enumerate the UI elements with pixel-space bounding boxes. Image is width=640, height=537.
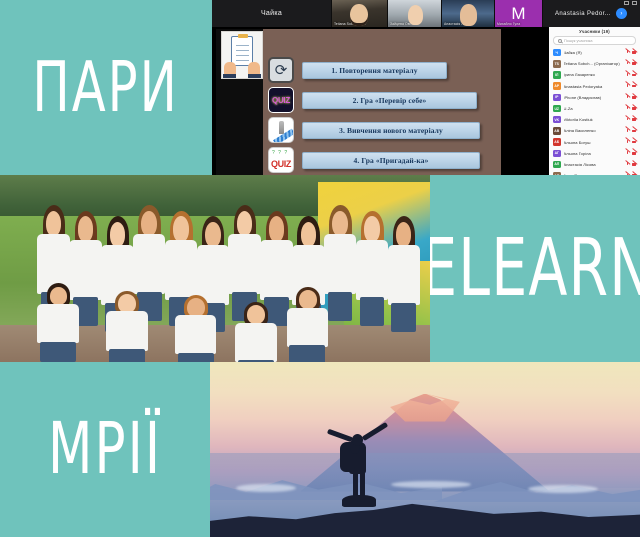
video-tile-2-name: Зайцева Ові... — [390, 22, 414, 26]
agenda-bar-1: 1. Повторення матеріалу — [302, 62, 447, 79]
participant-row[interactable]: APAnastasia Pedoryaka — [549, 81, 640, 92]
sleeve-left — [223, 74, 236, 78]
participant-status-icons — [625, 84, 637, 89]
quiz-red-icon: QUIZ — [268, 147, 294, 173]
mic-off-icon[interactable] — [625, 61, 630, 66]
participant-status-icons — [625, 61, 637, 66]
student-figure-front — [103, 291, 150, 362]
participant-avatar: АЛ — [553, 161, 561, 169]
participant-avatar: AP — [553, 82, 561, 90]
hiker-silhouette — [328, 404, 390, 502]
participant-row[interactable]: iPiPhone (Владислав) — [549, 92, 640, 103]
participant-avatar: АВ — [553, 127, 561, 135]
camera-off-icon[interactable] — [632, 117, 637, 122]
participants-title: Учасники (19) — [549, 27, 640, 36]
camera-off-icon[interactable] — [632, 72, 637, 77]
quiz-neon-icon: QUIZ — [268, 87, 294, 113]
video-tile-1-name: Tetiana Sobchenk... — [334, 22, 366, 26]
student-figure-front — [284, 287, 331, 362]
panel-mrii-word: Мрії — [48, 415, 162, 483]
agenda-row-1: ⟳ 1. Повторення матеріалу — [268, 57, 447, 83]
participant-row[interactable]: UZU-Za — [549, 103, 640, 114]
participant-name: Альона Богуш — [564, 140, 623, 145]
participant-row[interactable]: АЛАнастасія Лісова — [549, 159, 640, 170]
camera-off-icon[interactable] — [632, 140, 637, 145]
participant-row[interactable]: TSTetiana Sobch... (Організатор) — [549, 58, 640, 69]
hiker-arm-left — [327, 429, 353, 443]
agenda-row-3: 3. Вивчення нового матеріалу — [268, 117, 480, 143]
hiker-leg-left — [353, 472, 358, 502]
participant-row[interactable]: АБАльона Богуш — [549, 137, 640, 148]
participant-name: Ірина Лазаренко — [564, 72, 623, 77]
participant-status-icons — [625, 95, 637, 100]
student-figure-front — [34, 283, 81, 362]
mic-off-icon[interactable] — [625, 84, 630, 89]
search-icon — [558, 39, 562, 43]
participant-search-placeholder: Пошук учасника — [564, 39, 592, 43]
panel-pary-word: Пари — [33, 55, 179, 121]
pen-icon — [268, 117, 294, 143]
participants-list[interactable]: ЧЧайка (Я)TSTetiana Sobch... (Організато… — [549, 47, 640, 175]
panel-group-photo — [0, 175, 430, 362]
mic-off-icon[interactable] — [625, 128, 630, 133]
student-figure — [384, 216, 423, 332]
panel-elearn: Elearn — [430, 175, 640, 362]
video-tile-4-name: Михайло Гула — [497, 22, 520, 26]
agenda-label-3: 3. Вивчення нового матеріалу — [339, 126, 443, 135]
mic-off-icon[interactable] — [625, 95, 630, 100]
agenda-bar-2: 2. Гра «Перевір себе» — [302, 92, 477, 109]
video-tile-1[interactable]: Tetiana Sobchenk... — [332, 0, 388, 27]
participant-status-icons — [625, 117, 637, 122]
agenda-label-2: 2. Гра «Перевір себе» — [353, 96, 427, 105]
participant-row[interactable]: АГАльона Горіла — [549, 148, 640, 159]
foreground-ridge — [210, 499, 640, 537]
camera-off-icon[interactable] — [632, 128, 637, 133]
active-speaker-name: Anastasia Pedor... — [555, 11, 611, 17]
participant-name: Альона Горіла — [564, 151, 623, 156]
shared-screen-area: ⟳ 1. Повторення матеріалу QUIZ 2. Гра «П… — [212, 27, 549, 175]
cloud-1 — [236, 484, 296, 492]
participant-status-icons — [625, 162, 637, 167]
student-figure-front — [172, 295, 219, 362]
agenda-row-4: QUIZ 4. Гра «Пригадай-ка» — [268, 147, 480, 173]
camera-off-icon[interactable] — [632, 95, 637, 100]
hiker-rock — [342, 495, 376, 507]
participant-row[interactable]: АВАліна Василенко — [549, 125, 640, 136]
participant-row[interactable]: ЧЧайка (Я) — [549, 47, 640, 58]
participant-row[interactable]: VKViktoriia Kostiuk — [549, 114, 640, 125]
participant-name: Tetiana Sobch... (Організатор) — [564, 61, 623, 66]
active-speaker-strip: Anastasia Pedor... › — [549, 0, 640, 27]
participant-name: Viktoriia Kostiuk — [564, 117, 623, 122]
panel-mrii: Мрії — [0, 362, 210, 537]
participant-status-icons — [625, 106, 637, 111]
presentation-slide: ⟳ 1. Повторення матеріалу QUIZ 2. Гра «П… — [216, 29, 501, 175]
hiker-arm-right — [362, 422, 388, 441]
chevron-right-icon[interactable]: › — [616, 8, 627, 19]
agenda-bar-4: 4. Гра «Пригадай-ка» — [302, 152, 480, 169]
participant-avatar: VK — [553, 116, 561, 124]
participant-status-icons — [625, 50, 637, 55]
participant-status-icons — [625, 140, 637, 145]
participant-name: Чайка (Я) — [564, 50, 623, 55]
clipboard-icon — [231, 36, 253, 66]
participant-name: iPhone (Владислав) — [564, 95, 623, 100]
mic-off-icon[interactable] — [625, 140, 630, 145]
mic-off-icon[interactable] — [625, 106, 630, 111]
photo-collage: Пари Чайка Tetiana Sobchenk... Зайцева О… — [0, 0, 640, 537]
participant-avatar: Ч — [553, 49, 561, 57]
participant-status-icons — [625, 128, 637, 133]
participant-avatar: ІЛ — [553, 71, 561, 79]
video-tile-4-initial[interactable]: M Михайло Гула — [495, 0, 543, 27]
panel-zoom-screenshot: Чайка Tetiana Sobchenk... Зайцева Ові...… — [212, 0, 640, 175]
hiker-leg-right — [360, 472, 365, 502]
mic-off-icon[interactable] — [625, 162, 630, 167]
avatar-initial: M — [511, 5, 525, 22]
maximize-icon[interactable] — [632, 1, 637, 5]
mic-off-icon[interactable] — [625, 151, 630, 156]
agenda-row-2: QUIZ 2. Гра «Перевір себе» — [268, 87, 477, 113]
panel-mountain-photo — [210, 362, 640, 537]
participant-status-icons — [625, 151, 637, 156]
camera-off-icon[interactable] — [632, 84, 637, 89]
camera-off-icon[interactable] — [632, 61, 637, 66]
restore-icon[interactable] — [624, 1, 629, 5]
video-tile-3-name: Анастасія Лю... — [444, 22, 469, 26]
participant-avatar: iP — [553, 94, 561, 102]
mic-off-icon[interactable] — [625, 50, 630, 55]
mic-off-icon[interactable] — [625, 72, 630, 77]
video-tile-3[interactable]: Анастасія Лю... — [442, 0, 495, 27]
participant-avatar: АБ — [553, 138, 561, 146]
panel-elearn-word: Elearn — [430, 231, 640, 306]
participant-avatar: UZ — [553, 105, 561, 113]
participant-name: Аліна Василенко — [564, 128, 623, 133]
student-figure-front — [232, 302, 279, 362]
participant-row[interactable]: ІЛІрина Лазаренко — [549, 69, 640, 80]
participant-status-icons — [625, 72, 637, 77]
agenda-label-1: 1. Повторення матеріалу — [331, 66, 417, 75]
participant-search-field[interactable]: Пошук учасника — [553, 36, 636, 45]
camera-off-icon[interactable] — [632, 50, 637, 55]
participant-name: Анастасія Лісова — [564, 162, 623, 167]
window-controls[interactable] — [624, 1, 637, 5]
participants-panel: Учасники (19) Пошук учасника ЧЧайка (Я)T… — [549, 27, 640, 175]
participant-avatar: АГ — [553, 150, 561, 158]
participant-avatar: TS — [553, 60, 561, 68]
video-tile-2[interactable]: Зайцева Ові... — [388, 0, 442, 27]
camera-off-icon[interactable] — [632, 162, 637, 167]
zoom-video-filmstrip: Чайка Tetiana Sobchenk... Зайцева Ові...… — [212, 0, 549, 27]
agenda-image — [221, 31, 263, 79]
panel-pary: Пари — [0, 0, 212, 175]
video-tile-self[interactable]: Чайка — [212, 0, 332, 27]
agenda-label-4: 4. Гра «Пригадай-ка» — [354, 156, 429, 165]
agenda-bar-3: 3. Вивчення нового матеріалу — [302, 122, 480, 139]
participant-name: Anastasia Pedoryaka — [564, 84, 623, 89]
mic-off-icon[interactable] — [625, 117, 630, 122]
sleeve-right — [248, 74, 261, 78]
video-tile-self-label: Чайка — [261, 10, 282, 17]
camera-off-icon[interactable] — [632, 151, 637, 156]
participant-name: U-Za — [564, 106, 623, 111]
refresh-icon: ⟳ — [268, 57, 294, 83]
cloud-2 — [391, 481, 471, 488]
camera-off-icon[interactable] — [632, 106, 637, 111]
